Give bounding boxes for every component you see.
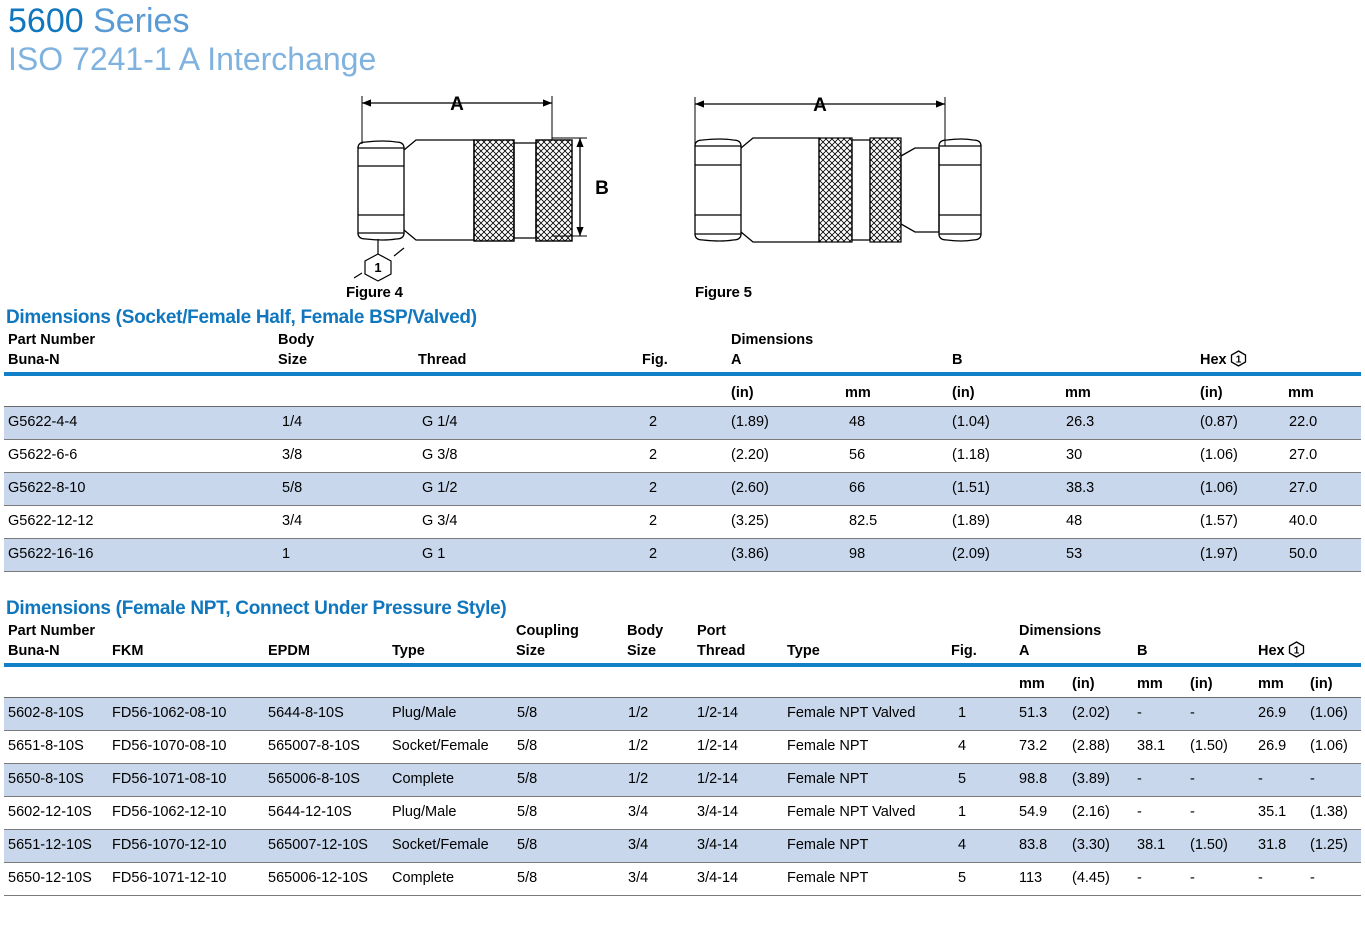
cell-port_thread: 3/4-14: [697, 804, 738, 820]
cell-fig: 2: [649, 447, 657, 463]
cell-hex_in: (1.97): [1200, 546, 1238, 562]
cell-part: G5622-12-12: [8, 513, 93, 529]
cell-coupling_size: 5/8: [517, 738, 537, 754]
units-a-mm: mm: [845, 383, 871, 403]
units-hex-mm: mm: [1288, 383, 1314, 403]
figure-5-drawing: A: [655, 88, 985, 283]
cell-type2: Female NPT: [787, 870, 868, 886]
header2-dim-b: B: [1137, 641, 1147, 661]
figure-4-dim-a-label: A: [450, 94, 464, 115]
cell-type: Plug/Male: [392, 804, 456, 820]
table-row: 5650-8-10SFD56-1071-08-10565006-8-10SCom…: [4, 764, 1361, 797]
page-title: 5600 Series: [8, 2, 1365, 40]
svg-text:1: 1: [1293, 645, 1299, 656]
cell-a_in: (3.25): [731, 513, 769, 529]
cell-fig: 4: [958, 738, 966, 754]
cell-thread: G 1/2: [422, 480, 457, 496]
cell-type2: Female NPT Valved: [787, 804, 915, 820]
cell-b_mm: 38.1: [1137, 738, 1165, 754]
cell-a_in: (2.88): [1072, 738, 1110, 754]
cell-b_mm: -: [1137, 705, 1142, 721]
cell-buna: 5650-8-10S: [8, 771, 84, 787]
cell-fig: 1: [958, 804, 966, 820]
cell-buna: 5651-8-10S: [8, 738, 84, 754]
cell-hex_in: (1.06): [1200, 447, 1238, 463]
cell-fkm: FD56-1070-08-10: [112, 738, 226, 754]
figure-4-callout-number: 1: [374, 260, 381, 275]
page-subtitle: ISO 7241-1 A Interchange: [8, 40, 1365, 78]
cell-type: Socket/Female: [392, 738, 489, 754]
cell-b_in: (1.89): [952, 513, 990, 529]
cell-body_size: 3/4: [282, 513, 302, 529]
cell-b_in: -: [1190, 771, 1195, 787]
cell-body_size: 1/2: [628, 771, 648, 787]
table2-header-row: Part Number Buna-N FKM EPDM Type Couplin…: [0, 621, 1365, 663]
cell-hex_in: (1.06): [1200, 480, 1238, 496]
cell-b_in: -: [1190, 705, 1195, 721]
units2-b-mm: mm: [1137, 674, 1163, 694]
cell-hex_mm: 26.9: [1258, 738, 1286, 754]
cell-b_in: (1.04): [952, 414, 990, 430]
header2-fig: Fig.: [951, 641, 977, 661]
header2-hex: Hex1: [1258, 641, 1305, 661]
figure-4-dim-b-label: B: [595, 178, 609, 199]
table-row: G5622-12-123/4G 3/42(3.25)82.5(1.89)48(1…: [4, 506, 1361, 539]
cell-body_size: 3/4: [628, 804, 648, 820]
cell-a_in: (2.16): [1072, 804, 1110, 820]
units2-a-in: (in): [1072, 674, 1095, 694]
table-row: G5622-16-161G 12(3.86)98(2.09)53(1.97)50…: [4, 539, 1361, 572]
cell-hex_mm: 50.0: [1289, 546, 1317, 562]
cell-a_in: (1.89): [731, 414, 769, 430]
cell-coupling_size: 5/8: [517, 771, 537, 787]
cell-type: Complete: [392, 771, 454, 787]
cell-a_mm: 48: [849, 414, 865, 430]
cell-hex_in: -: [1310, 870, 1315, 886]
cell-a_in: (2.20): [731, 447, 769, 463]
cell-port_thread: 3/4-14: [697, 870, 738, 886]
cell-port_thread: 3/4-14: [697, 837, 738, 853]
table-row: G5622-4-41/4G 1/42(1.89)48(1.04)26.3(0.8…: [4, 407, 1361, 440]
table-row: 5602-12-10SFD56-1062-12-105644-12-10SPlu…: [4, 797, 1361, 830]
table1-units-row: (in) mm (in) mm (in) mm: [0, 376, 1365, 406]
cell-a_mm: 56: [849, 447, 865, 463]
units2-b-in: (in): [1190, 674, 1213, 694]
cell-epdm: 565006-12-10S: [268, 870, 368, 886]
figure-4-drawing: 1 A B: [340, 88, 630, 283]
table-row: 5650-12-10SFD56-1071-12-10565006-12-10SC…: [4, 863, 1361, 896]
header-fig: Fig.: [642, 350, 668, 370]
cell-a_mm: 113: [1019, 870, 1042, 886]
cell-buna: 5602-8-10S: [8, 705, 84, 721]
header2-type2: Type: [787, 641, 820, 661]
cell-fkm: FD56-1070-12-10: [112, 837, 226, 853]
cell-b_mm: 30: [1066, 447, 1082, 463]
units-a-in: (in): [731, 383, 754, 403]
cell-hex_in: (1.25): [1310, 837, 1348, 853]
cell-a_mm: 73.2: [1019, 738, 1047, 754]
cell-b_in: (1.50): [1190, 738, 1228, 754]
table2-body: 5602-8-10SFD56-1062-08-105644-8-10SPlug/…: [0, 698, 1365, 896]
table2-units-row: mm (in) mm (in) mm (in): [0, 667, 1365, 697]
cell-a_mm: 98.8: [1019, 771, 1047, 787]
header-dimensions: Dimensions A: [731, 330, 813, 370]
header-part-number: Part Number Buna-N: [8, 330, 95, 370]
cell-coupling_size: 5/8: [517, 804, 537, 820]
cell-type: Plug/Male: [392, 705, 456, 721]
cell-b_mm: -: [1137, 804, 1142, 820]
cell-a_in: (2.02): [1072, 705, 1110, 721]
cell-hex_in: (1.06): [1310, 705, 1348, 721]
table1-body: G5622-4-41/4G 1/42(1.89)48(1.04)26.3(0.8…: [0, 407, 1365, 572]
cell-body_size: 5/8: [282, 480, 302, 496]
table-row: 5651-8-10SFD56-1070-08-10565007-8-10SSoc…: [4, 731, 1361, 764]
table-female-npt-cup: Part Number Buna-N FKM EPDM Type Couplin…: [0, 621, 1365, 896]
cell-fig: 2: [649, 480, 657, 496]
hex-note-icon: 1: [1288, 641, 1305, 658]
header2-coupling-size: Coupling Size: [516, 621, 579, 661]
cell-b_in: -: [1190, 804, 1195, 820]
cell-part: G5622-8-10: [8, 480, 85, 496]
figure-4: 1 A B Figure 4: [340, 88, 630, 301]
cell-hex_in: (1.06): [1310, 738, 1348, 754]
header2-fkm: FKM: [112, 641, 143, 661]
cell-a_mm: 98: [849, 546, 865, 562]
cell-body_size: 3/4: [628, 870, 648, 886]
units2-a-mm: mm: [1019, 674, 1045, 694]
cell-b_in: (1.51): [952, 480, 990, 496]
units2-hex-in: (in): [1310, 674, 1333, 694]
cell-body_size: 3/4: [628, 837, 648, 853]
cell-body_size: 1/2: [628, 705, 648, 721]
figure-5-caption: Figure 5: [695, 284, 985, 301]
cell-fkm: FD56-1071-12-10: [112, 870, 226, 886]
figure-4-caption: Figure 4: [346, 284, 630, 301]
cell-body_size: 1: [282, 546, 290, 562]
cell-hex_mm: -: [1258, 870, 1263, 886]
cell-a_in: (3.86): [731, 546, 769, 562]
cell-fig: 2: [649, 546, 657, 562]
cell-epdm: 565006-8-10S: [268, 771, 360, 787]
cell-fig: 1: [958, 705, 966, 721]
cell-b_mm: -: [1137, 870, 1142, 886]
cell-type2: Female NPT: [787, 771, 868, 787]
cell-port_thread: 1/2-14: [697, 771, 738, 787]
cell-type: Socket/Female: [392, 837, 489, 853]
cell-hex_in: (1.57): [1200, 513, 1238, 529]
cell-epdm: 5644-12-10S: [268, 804, 352, 820]
cell-fkm: FD56-1062-12-10: [112, 804, 226, 820]
figure-5: A Figure 5: [655, 88, 985, 301]
hex-note-icon: 1: [1230, 350, 1247, 367]
cell-port_thread: 1/2-14: [697, 738, 738, 754]
cell-fkm: FD56-1071-08-10: [112, 771, 226, 787]
table1-header-row: Part Number Buna-N Body Size Thread Fig.…: [0, 330, 1365, 372]
header-body-size: Body Size: [278, 330, 314, 370]
units-b-mm: mm: [1065, 383, 1091, 403]
cell-port_thread: 1/2-14: [697, 705, 738, 721]
cell-epdm: 5644-8-10S: [268, 705, 344, 721]
units2-hex-mm: mm: [1258, 674, 1284, 694]
cell-b_mm: -: [1137, 771, 1142, 787]
cell-a_mm: 82.5: [849, 513, 877, 529]
cell-part: G5622-4-4: [8, 414, 77, 430]
header-dim-b: B: [952, 350, 962, 370]
cell-hex_mm: 26.9: [1258, 705, 1286, 721]
cell-coupling_size: 5/8: [517, 705, 537, 721]
header-thread: Thread: [418, 350, 466, 370]
cell-b_in: (1.50): [1190, 837, 1228, 853]
cell-a_mm: 54.9: [1019, 804, 1047, 820]
cell-fig: 4: [958, 837, 966, 853]
cell-b_mm: 38.3: [1066, 480, 1094, 496]
cell-a_in: (2.60): [731, 480, 769, 496]
page-title-block: 5600 Series ISO 7241-1 A Interchange: [0, 0, 1365, 78]
cell-a_mm: 51.3: [1019, 705, 1047, 721]
cell-a_mm: 66: [849, 480, 865, 496]
cell-b_in: (1.18): [952, 447, 990, 463]
cell-hex_in: (0.87): [1200, 414, 1238, 430]
header2-port-thread: Port Thread: [697, 621, 745, 661]
table2-heading: Dimensions (Female NPT, Connect Under Pr…: [0, 598, 1365, 620]
table-row: 5651-12-10SFD56-1070-12-10565007-12-10SS…: [4, 830, 1361, 863]
cell-b_in: -: [1190, 870, 1195, 886]
cell-b_mm: 48: [1066, 513, 1082, 529]
cell-type: Complete: [392, 870, 454, 886]
table-row: G5622-6-63/8G 3/82(2.20)56(1.18)30(1.06)…: [4, 440, 1361, 473]
title-series-word: Series: [93, 2, 189, 40]
cell-type2: Female NPT: [787, 837, 868, 853]
cell-hex_in: (1.38): [1310, 804, 1348, 820]
cell-coupling_size: 5/8: [517, 870, 537, 886]
cell-hex_mm: 31.8: [1258, 837, 1286, 853]
cell-hex_mm: -: [1258, 771, 1263, 787]
cell-part: G5622-16-16: [8, 546, 93, 562]
figure-5-dim-a-label: A: [813, 95, 827, 116]
header2-part-number: Part Number Buna-N: [8, 621, 95, 661]
svg-text:1: 1: [1235, 354, 1241, 365]
table-row: 5602-8-10SFD56-1062-08-105644-8-10SPlug/…: [4, 698, 1361, 731]
cell-hex_mm: 27.0: [1289, 447, 1317, 463]
cell-thread: G 3/4: [422, 513, 457, 529]
cell-b_in: (2.09): [952, 546, 990, 562]
cell-type2: Female NPT: [787, 738, 868, 754]
cell-b_mm: 26.3: [1066, 414, 1094, 430]
header-hex: Hex1: [1200, 350, 1247, 370]
cell-hex_in: -: [1310, 771, 1315, 787]
table-socket-female-bsp: Part Number Buna-N Body Size Thread Fig.…: [0, 330, 1365, 572]
cell-fig: 2: [649, 414, 657, 430]
cell-part: G5622-6-6: [8, 447, 77, 463]
cell-a_in: (3.89): [1072, 771, 1110, 787]
cell-thread: G 1: [422, 546, 445, 562]
cell-body_size: 1/4: [282, 414, 302, 430]
title-series-number: 5600: [8, 2, 84, 40]
cell-body_size: 1/2: [628, 738, 648, 754]
units-b-in: (in): [952, 383, 975, 403]
cell-b_mm: 38.1: [1137, 837, 1165, 853]
table-row: G5622-8-105/8G 1/22(2.60)66(1.51)38.3(1.…: [4, 473, 1361, 506]
header2-body-size: Body Size: [627, 621, 663, 661]
cell-fig: 2: [649, 513, 657, 529]
cell-hex_mm: 22.0: [1289, 414, 1317, 430]
header2-epdm: EPDM: [268, 641, 310, 661]
cell-thread: G 3/8: [422, 447, 457, 463]
table1-heading: Dimensions (Socket/Female Half, Female B…: [0, 307, 1365, 329]
cell-fig: 5: [958, 870, 966, 886]
cell-a_mm: 83.8: [1019, 837, 1047, 853]
cell-fkm: FD56-1062-08-10: [112, 705, 226, 721]
cell-hex_mm: 40.0: [1289, 513, 1317, 529]
cell-buna: 5650-12-10S: [8, 870, 92, 886]
header2-dimensions: Dimensions A: [1019, 621, 1101, 661]
cell-a_in: (3.30): [1072, 837, 1110, 853]
cell-hex_mm: 27.0: [1289, 480, 1317, 496]
cell-b_mm: 53: [1066, 546, 1082, 562]
cell-body_size: 3/8: [282, 447, 302, 463]
cell-thread: G 1/4: [422, 414, 457, 430]
header2-type: Type: [392, 641, 425, 661]
cell-fig: 5: [958, 771, 966, 787]
cell-epdm: 565007-8-10S: [268, 738, 360, 754]
cell-a_in: (4.45): [1072, 870, 1110, 886]
cell-hex_mm: 35.1: [1258, 804, 1286, 820]
cell-coupling_size: 5/8: [517, 837, 537, 853]
cell-epdm: 565007-12-10S: [268, 837, 368, 853]
units-hex-in: (in): [1200, 383, 1223, 403]
cell-buna: 5651-12-10S: [8, 837, 92, 853]
cell-buna: 5602-12-10S: [8, 804, 92, 820]
cell-type2: Female NPT Valved: [787, 705, 915, 721]
figures-area: 1 A B Figure 4: [0, 82, 1365, 307]
